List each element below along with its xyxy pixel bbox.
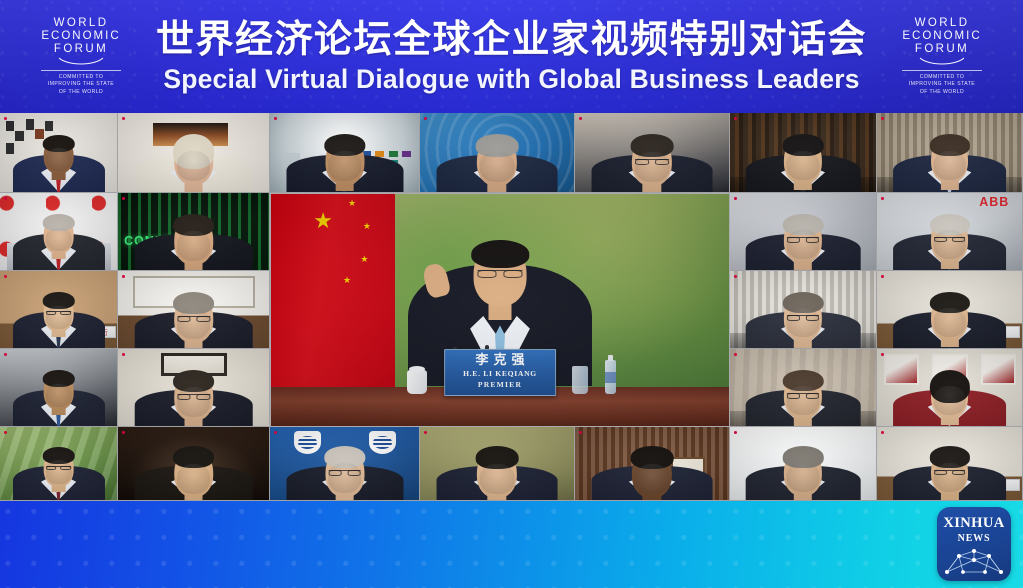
participant-video-feed (0, 113, 117, 192)
participant-face-shading (933, 151, 966, 180)
flag-star: ★ (343, 276, 351, 285)
participant-glasses (177, 316, 210, 324)
participant-face-shading (933, 308, 966, 337)
wef-logo-right-line2: ECONOMIC (902, 30, 981, 43)
participant-face-shading (45, 148, 71, 171)
participant-tile-r2c2[interactable]: CONNE (118, 193, 270, 271)
philips-logo-shield (369, 431, 396, 453)
wef-logo-left: WORLD ECONOMIC FORUM COMMITTED TOIMPROVI… (22, 17, 140, 96)
participant-tile-r4c2[interactable] (118, 349, 270, 427)
participant-video-feed (118, 271, 269, 348)
event-banner: WORLD ECONOMIC FORUM COMMITTED TOIMPROVI… (0, 0, 1023, 113)
tile-status-indicator (734, 196, 737, 201)
participant-tile-r4c6[interactable] (730, 349, 877, 427)
participant-face-shading (328, 151, 362, 180)
speaker-nameplate: 李克强H.E. LI KEQIANGPREMIER (444, 349, 556, 395)
participant-tile-r1c3[interactable] (270, 113, 420, 193)
participant-glasses (328, 470, 361, 478)
participant-video-feed (420, 113, 574, 192)
tile-status-indicator (881, 430, 884, 435)
participant-video-feed (575, 427, 729, 500)
abstract-art-panel (981, 354, 1016, 385)
participant-face-shading (933, 463, 966, 492)
participant-video-feed (730, 427, 876, 500)
wef-divider-right (902, 70, 982, 71)
participant-video-feed (877, 349, 1022, 426)
wef-logo-right-line1: WORLD (915, 17, 970, 30)
participant-video-feed: CONNE (118, 193, 269, 270)
flag-star: ★ (363, 222, 371, 231)
abb-logo: ABB (979, 195, 1023, 207)
participant-tile-r5c2[interactable] (118, 427, 270, 501)
main-speaker-glasses (477, 270, 522, 281)
participant-video-feed (730, 349, 876, 426)
participant-video-feed (730, 271, 876, 348)
wall-photo-frame (15, 131, 23, 141)
participant-tile-r3c1[interactable]: 中国工商银行 (0, 271, 118, 349)
participant-glasses (934, 470, 966, 478)
xinhua-wordmark-line2: NEWS (958, 534, 991, 544)
participant-video-feed (118, 427, 269, 500)
water-bottle (605, 360, 616, 394)
sponsor-logo (389, 151, 398, 157)
participant-face-shading (933, 230, 966, 259)
participant-face-shading (480, 152, 515, 182)
wef-logo-right: WORLD ECONOMIC FORUM COMMITTED TOIMPROVI… (883, 17, 1001, 96)
participant-tile-r5c1[interactable] (0, 427, 118, 501)
participant-glasses (934, 237, 966, 245)
participant-tile-r3c6[interactable] (730, 271, 877, 349)
participant-face-shading (177, 464, 211, 494)
tile-status-indicator (579, 430, 582, 435)
wef-logo-line1: WORLD (54, 17, 109, 30)
participant-glasses (787, 237, 819, 245)
participant-tile-r1c4[interactable] (420, 113, 575, 193)
participant-glasses (46, 311, 72, 317)
nameplate-chinese-name: 李克强 (463, 354, 537, 369)
water-glass (572, 366, 588, 394)
participant-face-shading (787, 151, 820, 180)
philips-logo-waves (298, 436, 318, 449)
sponsor-logo (402, 151, 411, 157)
tile-status-indicator (734, 352, 737, 357)
flag-star: ★ (313, 210, 333, 232)
participant-video-feed (0, 427, 117, 500)
tile-status-indicator (579, 116, 582, 121)
tile-status-indicator (424, 430, 427, 435)
event-title-english: Special Virtual Dialogue with Global Bus… (148, 64, 875, 94)
tile-status-indicator (4, 430, 7, 435)
footer-strip: XINHUA NEWS (0, 501, 1023, 588)
participant-tile-r1c2[interactable] (118, 113, 270, 193)
tile-status-indicator (4, 352, 7, 357)
screenshot-stage: WORLD ECONOMIC FORUM COMMITTED TOIMPROVI… (0, 0, 1023, 588)
participant-tile-r5c3[interactable] (270, 427, 420, 501)
participant-tile-r4c7[interactable] (877, 349, 1023, 427)
participant-face-shading (177, 231, 211, 261)
participant-tile-r2c1[interactable] (0, 193, 118, 271)
participant-video-feed (877, 113, 1022, 192)
tile-status-indicator (734, 116, 737, 121)
participant-video-feed: 中国工商银行 (0, 271, 117, 348)
participant-face-shading (480, 464, 515, 494)
philips-logo-waves (373, 436, 393, 449)
flag-star: ★ (360, 255, 368, 264)
participant-video-feed (270, 113, 419, 192)
tile-status-indicator (881, 116, 884, 121)
tile-status-indicator (4, 274, 7, 279)
participant-tile-r5c6[interactable] (730, 427, 877, 501)
tile-status-indicator (122, 430, 125, 435)
tile-status-indicator (4, 116, 7, 121)
participant-face-shading (45, 306, 71, 329)
participant-video-feed (270, 427, 419, 500)
main-speaker-video-feed: ★★★★★李克强H.E. LI KEQIANGPREMIER (271, 194, 729, 426)
participant-video-feed: 中国农业银行 (877, 427, 1022, 500)
tile-status-indicator (881, 196, 884, 201)
participant-tile-r1c7[interactable] (877, 113, 1023, 193)
participant-tile-r1c1[interactable] (0, 113, 118, 193)
wall-photo-frame (35, 129, 43, 139)
philips-logo-shield (294, 431, 321, 453)
wall-photo-frame (6, 121, 14, 131)
participant-glasses (177, 394, 210, 402)
participant-video-feed (420, 427, 574, 500)
tile-status-indicator (424, 116, 427, 121)
participant-video-feed: 中国银行 (877, 271, 1022, 348)
participant-tile-r5c7[interactable]: 中国农业银行 (877, 427, 1023, 501)
nameplate-english-name: H.E. LI KEQIANG (463, 369, 537, 379)
participant-face-shading (45, 460, 71, 483)
tile-status-indicator (881, 352, 884, 357)
participant-face-shading (177, 387, 211, 417)
participant-glasses (787, 315, 819, 323)
participant-tile-r2c7[interactable]: ABB (877, 193, 1023, 271)
wef-swoosh-icon (58, 57, 104, 66)
tile-status-indicator (4, 196, 7, 201)
participant-tile-r5c4[interactable] (420, 427, 575, 501)
tile-status-indicator (122, 352, 125, 357)
participant-face-shading (635, 464, 670, 494)
participant-video-feed (0, 193, 117, 270)
participant-face-shading (787, 230, 820, 259)
participant-face-shading (787, 463, 820, 492)
tile-status-indicator (122, 196, 125, 201)
participant-face-shading (177, 151, 211, 181)
banner-titles: 世界经济论坛全球企业家视频特别对话会 Special Virtual Dialo… (140, 18, 883, 94)
nameplate-title: PREMIER (463, 380, 537, 390)
participant-glasses (635, 159, 669, 167)
tile-status-indicator (734, 430, 737, 435)
participant-face-shading (933, 386, 966, 415)
wef-tagline-right: COMMITTED TOIMPROVING THE STATEOF THE WO… (909, 74, 975, 96)
wall-photo-frame (45, 121, 53, 131)
participant-video-feed (118, 113, 269, 192)
participant-face-shading (177, 309, 211, 339)
xinhua-news-watermark: XINHUA NEWS (937, 507, 1011, 581)
participant-video-feed (730, 193, 876, 270)
tile-status-indicator (274, 430, 277, 435)
participant-face-shading (787, 386, 820, 415)
tea-cup (407, 370, 427, 394)
wef-divider (41, 70, 121, 71)
participant-video-feed: ABB (877, 193, 1022, 270)
participant-video-feed (118, 349, 269, 426)
participant-video-feed (730, 113, 876, 192)
participant-tile-r3c7[interactable]: 中国银行 (877, 271, 1023, 349)
abstract-art-panel (884, 354, 919, 385)
participant-tile-r1c6[interactable] (730, 113, 877, 193)
wef-tagline-left: COMMITTED TOIMPROVING THE STATEOF THE WO… (48, 74, 114, 96)
participant-video-feed (0, 349, 117, 426)
main-speaker-hair (471, 240, 529, 268)
tile-status-indicator (122, 274, 125, 279)
participant-tile-r4c1[interactable] (0, 349, 118, 427)
participant-face-shading (328, 463, 362, 492)
tile-status-indicator (734, 274, 737, 279)
tile-status-indicator (274, 116, 277, 121)
participant-face-shading (635, 152, 670, 182)
wef-logo-line2: ECONOMIC (41, 30, 120, 43)
participant-tile-r3c2[interactable] (118, 271, 270, 349)
wef-logo-line3: FORUM (54, 43, 108, 56)
wall-photo-frame (6, 143, 14, 153)
participant-face-shading (45, 228, 71, 251)
wall-photo-frame (26, 119, 34, 129)
wef-logo-right-line3: FORUM (915, 43, 969, 56)
participant-glasses (787, 393, 819, 401)
participant-tile-r1c5[interactable] (575, 113, 730, 193)
main-speaker-tile[interactable]: ★★★★★李克强H.E. LI KEQIANGPREMIER (270, 193, 730, 427)
participant-tile-r5c5[interactable] (575, 427, 730, 501)
participant-tile-r2c6[interactable] (730, 193, 877, 271)
participant-video-feed (575, 113, 729, 192)
participant-face-shading (45, 384, 71, 407)
video-conference-grid: CONNEABB中国工商银行中国银行中国农业银行★★★★★李克强H.E. LI … (0, 113, 1023, 501)
xinhua-wordmark-line1: XINHUA (943, 516, 1004, 531)
wef-swoosh-icon-right (919, 57, 965, 66)
participant-face-shading (787, 308, 820, 337)
network-globe-icon (943, 548, 1005, 578)
flag-star: ★ (348, 199, 356, 208)
tile-status-indicator (881, 274, 884, 279)
participant-glasses (46, 466, 72, 472)
event-title-chinese: 世界经济论坛全球企业家视频特别对话会 (148, 18, 875, 61)
tile-status-indicator (122, 116, 125, 121)
